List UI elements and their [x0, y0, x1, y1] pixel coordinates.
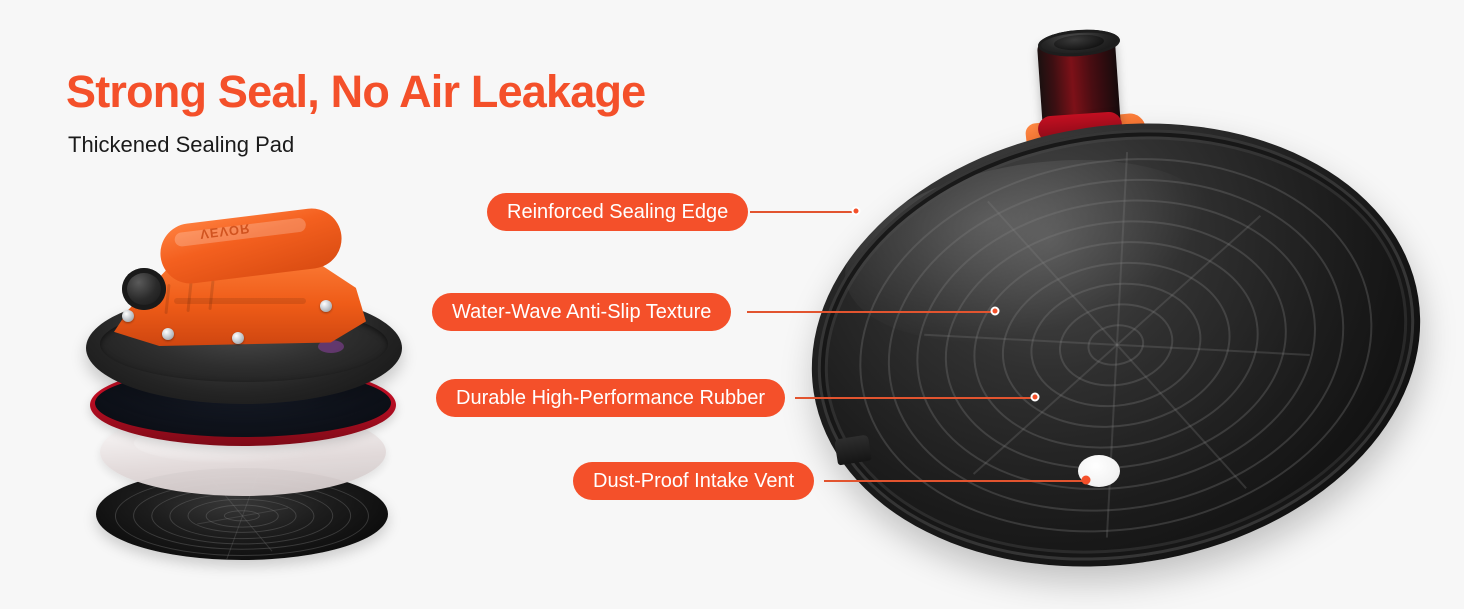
callout-dot-icon	[852, 207, 861, 216]
ribbed-sealing-disc	[780, 81, 1453, 609]
page-title: Strong Seal, No Air Leakage	[66, 66, 645, 118]
callout-pill-water-wave-anti-slip-texture[interactable]: Water-Wave Anti-Slip Texture	[432, 293, 731, 331]
callout-dot-icon	[1031, 393, 1040, 402]
callout-dot-icon	[1082, 476, 1091, 485]
callout-label: Dust-Proof Intake Vent	[593, 470, 794, 493]
screw-icon	[122, 310, 134, 322]
handle-assembly: VEVOR	[104, 206, 374, 346]
callout-connector	[750, 211, 856, 213]
callout-connector	[824, 480, 1086, 482]
callout-dot-icon	[991, 307, 1000, 316]
callout-pill-durable-high-performance-rubber[interactable]: Durable High-Performance Rubber	[436, 379, 785, 417]
callout-label: Reinforced Sealing Edge	[507, 201, 728, 224]
callout-label: Water-Wave Anti-Slip Texture	[452, 301, 711, 324]
release-tab	[834, 435, 872, 466]
release-valve-knob	[122, 268, 166, 310]
callout-connector	[747, 311, 995, 313]
exploded-product-image: VEVOR	[78, 196, 418, 576]
screw-icon	[162, 328, 174, 340]
screw-icon	[320, 300, 332, 312]
page-subtitle: Thickened Sealing Pad	[68, 132, 294, 158]
callout-pill-reinforced-sealing-edge[interactable]: Reinforced Sealing Edge	[487, 193, 748, 231]
callout-pill-dust-proof-intake-vent[interactable]: Dust-Proof Intake Vent	[573, 462, 814, 500]
infographic-canvas: Strong Seal, No Air Leakage Thickened Se…	[0, 0, 1464, 600]
callout-label: Durable High-Performance Rubber	[456, 387, 765, 410]
callout-connector	[795, 397, 1035, 399]
screw-icon	[232, 332, 244, 344]
large-product-image	[800, 18, 1440, 588]
